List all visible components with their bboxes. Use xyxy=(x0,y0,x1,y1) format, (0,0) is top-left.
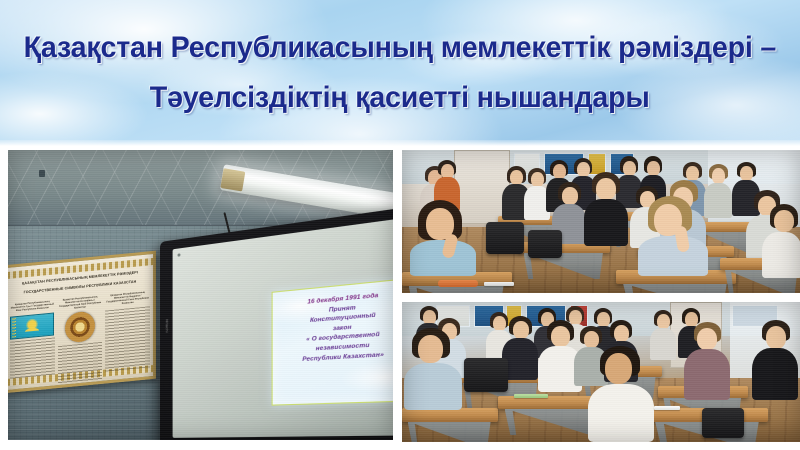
slide-text: 16 декабря 1991 года Принят Конституцион… xyxy=(273,278,393,366)
head xyxy=(774,210,794,232)
classroom-whiteboard-photo: ҚАЗАҚСТАН РЕСПУБЛИКАСЫНЫҢ МЕМЛЕКЕТТІК РӘ… xyxy=(8,150,393,440)
backpack xyxy=(702,408,744,438)
whiteboard-brand-label: Hitachi xyxy=(163,319,169,364)
notebook xyxy=(514,394,548,398)
torso xyxy=(762,232,800,278)
torso xyxy=(752,348,798,400)
classroom-scene-2 xyxy=(402,302,800,442)
head xyxy=(531,172,544,187)
poster-col3-text xyxy=(105,307,150,373)
poster-col1-heading: Қазақстан Республикасының Мемлекеттік Ту… xyxy=(10,299,55,313)
head xyxy=(605,353,632,384)
torso xyxy=(684,349,730,400)
head xyxy=(740,166,753,181)
torso xyxy=(584,199,628,246)
notebook xyxy=(484,282,514,286)
desk xyxy=(402,408,498,422)
whiteboard-surface: 16 декабря 1991 года Принят Конституцион… xyxy=(173,214,393,438)
flag-ornament xyxy=(12,318,16,337)
notebook xyxy=(654,406,680,410)
kazakhstan-flag-icon xyxy=(10,313,54,340)
head xyxy=(551,326,570,347)
page-title-line-1: Қазақстан Республикасының мемлекеттік рә… xyxy=(24,27,776,69)
state-symbols-poster: ҚАЗАҚСТАН РЕСПУБЛИКАСЫНЫҢ МЕМЛЕКЕТТІК РӘ… xyxy=(8,251,156,394)
poster-col1-text xyxy=(10,338,55,380)
head xyxy=(766,326,786,349)
wall-fixture-top xyxy=(39,170,45,177)
poster-col2-heading: Қазақстан Республикасының Мемлекеттік Ел… xyxy=(58,295,103,312)
poster-col3-heading: Қазақстан Республикасының Мемлекеттік Ән… xyxy=(105,290,150,307)
student-foreground xyxy=(588,346,654,442)
lamp-end-cap xyxy=(220,168,245,191)
poster-column-emblem: Қазақстан Республикасының Мемлекеттік Ел… xyxy=(58,295,103,373)
student xyxy=(762,204,800,278)
backpack xyxy=(464,358,508,392)
torso xyxy=(638,236,708,276)
poster-column-flag: Қазақстан Республикасының Мемлекеттік Ту… xyxy=(10,299,55,377)
flag-eagle xyxy=(25,327,39,331)
interactive-whiteboard: 16 декабря 1991 года Принят Конституцион… xyxy=(160,203,393,440)
torso xyxy=(704,183,732,218)
torso xyxy=(588,384,654,442)
projected-slide: 16 декабря 1991 года Принят Конституцион… xyxy=(272,277,393,406)
students-classroom-photo-2 xyxy=(402,302,800,442)
student xyxy=(704,164,732,218)
poster-col2-text xyxy=(58,342,103,384)
page-title-line-2: Тәуелсіздіктің қасиетті нышандары xyxy=(150,77,650,119)
kazakhstan-emblem-icon xyxy=(65,311,95,344)
head xyxy=(562,187,578,205)
head xyxy=(647,161,660,176)
title-banner: Қазақстан Республикасының мемлекеттік рә… xyxy=(0,0,800,146)
title-wrap: Қазақстан Республикасының мемлекеттік рә… xyxy=(0,0,800,146)
head xyxy=(513,321,529,339)
torso xyxy=(404,363,462,410)
head xyxy=(697,328,717,350)
backpack xyxy=(486,222,524,254)
head xyxy=(418,335,443,363)
poster-column-anthem: Қазақстан Республикасының Мемлекеттік Ән… xyxy=(105,290,150,368)
students-classroom-photo-1 xyxy=(402,150,800,293)
student xyxy=(584,172,628,246)
student-foreground xyxy=(410,200,476,276)
poster-columns: Қазақстан Республикасының Мемлекеттік Ту… xyxy=(10,290,150,377)
head xyxy=(657,314,670,329)
whiteboard-indicator xyxy=(178,253,181,256)
head xyxy=(553,164,566,179)
student-foreground xyxy=(638,196,708,276)
student xyxy=(684,322,730,400)
student-foreground xyxy=(404,328,462,410)
student xyxy=(752,320,798,400)
head xyxy=(686,166,699,181)
head xyxy=(510,170,523,185)
pencil-case xyxy=(438,280,478,287)
head xyxy=(596,178,616,200)
head xyxy=(614,325,629,342)
backpack xyxy=(528,230,562,258)
head xyxy=(712,168,725,184)
classroom-scene-1 xyxy=(402,150,800,293)
